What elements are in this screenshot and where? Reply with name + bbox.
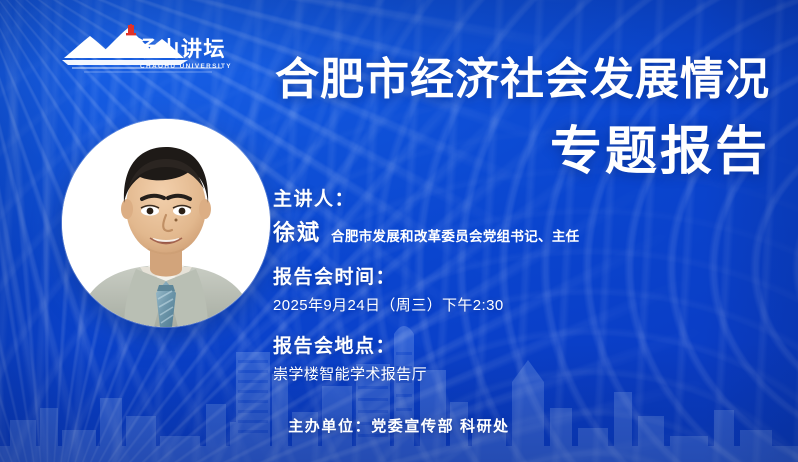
organizer-text: 主办单位：党委宣传部 科研处: [288, 415, 510, 436]
logo-name-en: CHAOHU UNIVERSITY: [140, 63, 232, 70]
poster-title-line1: 合肥市经济社会发展情况: [275, 58, 770, 102]
poster-title-line2: 专题报告: [275, 126, 770, 178]
time-label: 报告会时间：: [273, 268, 579, 287]
time-value: 2025年9月24日（周三）下午2:30: [273, 298, 579, 313]
footer: 主办单位：党委宣传部 科研处: [0, 415, 798, 436]
lecture-info: 主讲人： 徐斌 合肥市发展和改革委员会党组书记、主任 报告会时间： 2025年9…: [273, 190, 579, 382]
speaker-portrait: [62, 119, 270, 327]
speaker-label: 主讲人：: [273, 190, 579, 209]
lecture-poster: 汤山讲坛 CHAOHU UNIVERSITY 合肥市经济社会发展情况 专题报告: [0, 0, 798, 462]
speaker-name: 徐斌: [273, 222, 321, 244]
speaker-title: 合肥市发展和改革委员会党组书记、主任: [331, 230, 579, 245]
logo-name-cn: 汤山讲坛: [136, 37, 226, 61]
place-label: 报告会地点：: [273, 337, 579, 356]
headline: 合肥市经济社会发展情况 专题报告: [275, 58, 770, 178]
chaohu-university-logo: 汤山讲坛 CHAOHU UNIVERSITY: [62, 24, 234, 78]
place-value: 崇学楼智能学术报告厅: [273, 367, 579, 382]
speaker-row: 徐斌 合肥市发展和改革委员会党组书记、主任: [273, 222, 579, 244]
